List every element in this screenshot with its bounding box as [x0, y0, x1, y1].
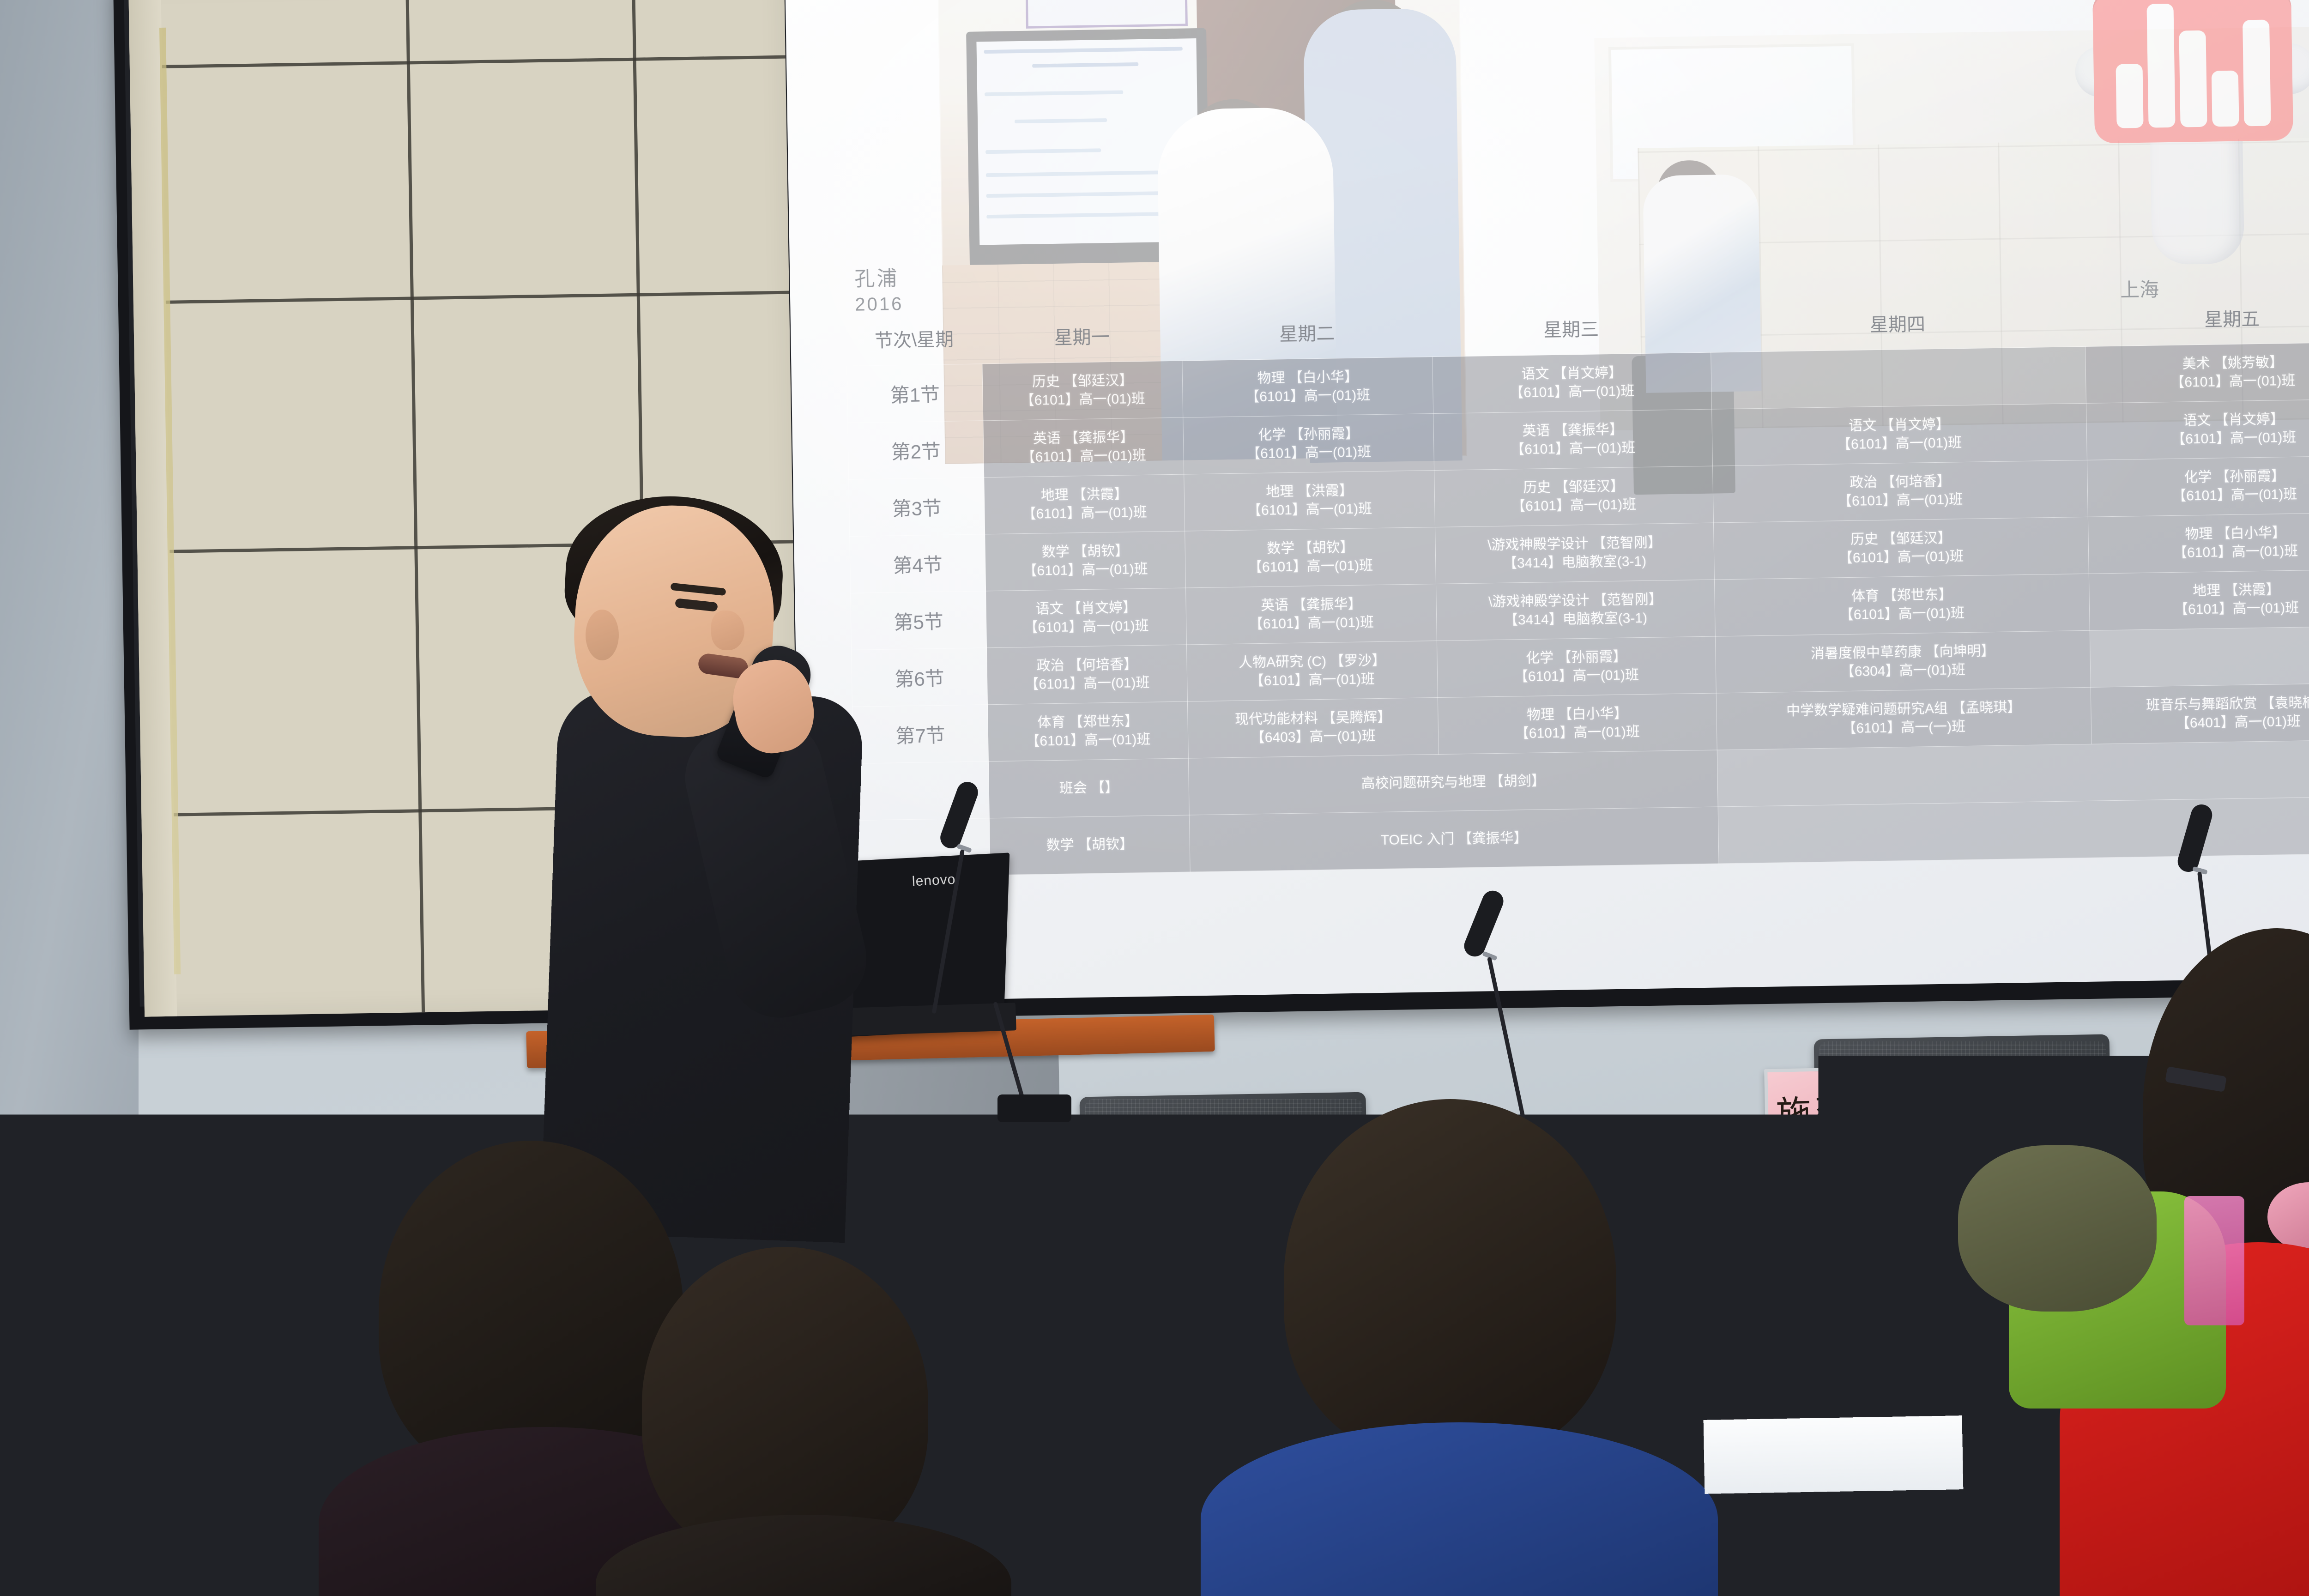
timetable-cell: 语文 【肖文婷】【6101】高一(01)班: [1711, 403, 2087, 466]
timetable-cell: 地理 【洪霞】【6101】高一(01)班: [1184, 471, 1435, 531]
timetable-cell: 化学 【孙丽霞】【6101】高一(01)班: [2087, 455, 2309, 517]
timetable-cell-subject: 物理 【白小华】: [2089, 522, 2309, 545]
timetable-table: 节次\星期 星期一 星期二 星期三 星期四 星期五 第1节历史 【邹廷汉】【61…: [846, 298, 2309, 877]
paper-cup-stripe: [970, 1399, 980, 1448]
timetable-cell: \游戏神殿学设计 【范智刚】【3414】电脑教室(3-1): [1435, 523, 1714, 584]
timetable-row-label: 第7节: [852, 705, 988, 764]
timetable-cell: 英语 【龚振华】【6101】高一(01)班: [1186, 584, 1437, 645]
bar-chart-bar-5: [2243, 19, 2271, 126]
timetable-cell-room: 【3414】电脑教室(3-1): [1436, 551, 1713, 574]
slide-meta-line-2: 2016: [855, 294, 904, 315]
timetable-row-label: 第5节: [851, 591, 987, 650]
audience-head-5: [1284, 1099, 1616, 1459]
timetable-cell-room: 【6101】高一(01)班: [1435, 495, 1712, 518]
timetable-day-header-5: 星期五: [2085, 298, 2309, 346]
timetable-cell: 英语 【龚振华】【6101】高一(01)班: [1433, 409, 1712, 470]
timetable-cell-room: 【6101】高一(01)班: [1434, 438, 1711, 461]
timetable-cell: 历史 【邹廷汉】【6101】高一(01)班: [982, 361, 1183, 421]
timetable-cell: 物理 【白小华】【6101】高一(01)班: [1438, 693, 1717, 754]
timetable-cell: 语文 【肖文婷】【6101】高一(01)班: [1433, 352, 1711, 413]
slide-3d-figure: [2068, 0, 2309, 271]
timetable-footer-cell: TOEIC 入门 【龚振华】: [1190, 807, 1719, 872]
timetable-footer-cell: [1717, 739, 2309, 807]
nameplate-text: 施建国: [1775, 1083, 1892, 1136]
timetable-cell-room: 【6101】高一(01)班: [1186, 556, 1435, 578]
timetable-day-header-4: 星期四: [1710, 303, 2085, 352]
slide-meta-line-1: 孔浦: [854, 261, 899, 292]
timetable-cell-room: 【6403】高一(01)班: [1189, 726, 1438, 749]
timetable-cell-subject: 班音乐与舞蹈欣赏 【袁晓楠】: [2091, 693, 2309, 716]
timetable-cell: 体育 【郑世东】【6101】高一(01)班: [1714, 574, 2090, 636]
timetable-footer-cell: 数学 【胡钦】: [989, 815, 1190, 875]
bar-chart-bar-1: [2116, 63, 2143, 128]
timetable-cell: 物理 【白小华】【6101】高一(01)班: [2088, 512, 2309, 574]
timetable-cell: 现代功能材料 【吴腾辉】【6403】高一(01)班: [1188, 697, 1439, 758]
timetable-cell: 中学数学疑难问题研究A组 【孟晓琪】【6101】高一(一)班: [1716, 687, 2091, 750]
audience-head-3: [642, 1247, 928, 1561]
timetable-cell-room: 【6101】高一(01)班: [987, 617, 1186, 638]
timetable-cell: 体育 【郑世东】【6101】高一(01)班: [987, 701, 1188, 762]
timetable-cell: 地理 【洪霞】【6101】高一(01)班: [984, 474, 1185, 534]
timetable-cell-room: 【6101】高一(01)班: [1438, 665, 1715, 688]
bar-chart-bar-3: [2179, 30, 2207, 127]
timetable-cell-subject: 语文 【肖文婷】: [986, 598, 1185, 619]
speaker-nose: [711, 611, 744, 650]
timetable-cell-subject: 地理 【洪霞】: [985, 484, 1184, 506]
timetable-cell: 英语 【龚振华】【6101】高一(01)班: [983, 417, 1184, 478]
timetable-cell: 数学 【胡钦】【6101】高一(01)班: [985, 531, 1186, 591]
timetable-cell-room: 【6101】高一(01)班: [1433, 381, 1711, 404]
timetable-footer-cell: 高校问题研究与地理 【胡剑】: [1189, 750, 1718, 815]
timetable-row-label: 第1节: [847, 364, 983, 423]
speaker-ear: [586, 610, 619, 660]
timetable-cell-room: 【6101】高一(01)班: [1185, 499, 1434, 521]
timetable-cell-subject: 化学 【孙丽霞】: [2088, 465, 2309, 489]
timetable-cell: 数学 【胡钦】【6101】高一(01)班: [1185, 527, 1436, 588]
timetable-cell-room: 【6101】高一(01)班: [985, 503, 1184, 525]
slide-meta-top-right: 上海: [2120, 274, 2159, 302]
bar-chart-icon: [2092, 0, 2293, 143]
audience-olive-bag: [1958, 1145, 2157, 1312]
timetable-cell: 物理 【白小华】【6101】高一(01)班: [1182, 357, 1433, 417]
timetable-cell-room: 【6101】高一(01)班: [1184, 385, 1433, 408]
timetable-cell-subject: 地理 【洪霞】: [2090, 579, 2309, 602]
timetable-cell: 人物A研究 (C) 【罗沙】【6101】高一(01)班: [1187, 641, 1438, 701]
nameplate: 施建国: [1764, 1066, 1904, 1153]
timetable-row-label: 第2节: [848, 421, 984, 480]
timetable-cell-room: 【6101】高一(01)班: [984, 446, 1183, 468]
timetable-cell-subject: 英语 【龚振华】: [984, 427, 1183, 449]
timetable-row-label: 第4节: [850, 534, 986, 593]
timetable-cell-room: 【6101】高一(01)班: [1188, 669, 1437, 692]
timetable-cell: 政治 【何培香】【6101】高一(01)班: [987, 645, 1188, 705]
timetable-cell-room: 【6101】高一(01)班: [989, 730, 1188, 752]
timetable-cell-room: 【6101】高一(01)班: [1185, 442, 1433, 465]
timetable-cell: 消暑度假中草药康 【向坤明】【6304】高一(01)班: [1715, 630, 2091, 693]
slide-timetable: 孔浦 2016 上海 节次\星期 星期一 星期二 星期三 星期四 星期五 第1节…: [846, 298, 2309, 960]
timetable-cell: 历史 【邹廷汉】【6101】高一(01)班: [1434, 466, 1713, 527]
timetable-cell: \游戏神殿学设计 【范智刚】【3414】电脑教室(3-1): [1436, 580, 1715, 641]
timetable-cell: 历史 【邹廷汉】【6101】高一(01)班: [1713, 517, 2089, 580]
timetable-cell: 地理 【洪霞】【6101】高一(01)班: [2089, 569, 2309, 630]
timetable-cell: 美术 【姚芳敏】【6101】高一(01)班: [2085, 342, 2309, 403]
timetable-body: 第1节历史 【邹廷汉】【6101】高一(01)班物理 【白小华】【6101】高一…: [847, 342, 2309, 877]
bar-chart-bars: [2108, 2, 2277, 128]
timetable-cell-subject: 数学 【胡钦】: [986, 541, 1185, 562]
timetable-cell-room: 【6101】高一(01)班: [1439, 722, 1716, 745]
timetable-footer-cell: 班会 【】: [988, 758, 1189, 818]
audience-pink-bottle: [2184, 1196, 2244, 1325]
timetable-cell: 语文 【肖文婷】【6101】高一(01)班: [2086, 399, 2309, 460]
timetable-cell: 化学 【孙丽霞】【6101】高一(01)班: [1183, 414, 1434, 474]
timetable-cell-subject: 美术 【姚芳敏】: [2086, 352, 2309, 375]
timetable-cell-room: 【6101】高一(01)班: [1187, 612, 1436, 635]
timetable-cell-room: 【6101】高一(01)班: [983, 389, 1182, 411]
timetable-cell-subject: 历史 【邹廷汉】: [983, 370, 1182, 392]
projection-screen: 孔浦 2016 上海 节次\星期 星期一 星期二 星期三 星期四 星期五 第1节…: [785, 0, 2309, 1002]
timetable-cell-subject: 体育 【郑世东】: [988, 711, 1187, 733]
timetable-cell: [2090, 626, 2309, 687]
timetable-footer-cell: [1718, 796, 2309, 864]
timetable-cell-room: 【3414】电脑教室(3-1): [1437, 608, 1714, 631]
timetable-day-header-1: 星期一: [981, 317, 1182, 364]
timetable-cell: 政治 【何培香】【6101】高一(01)班: [1712, 460, 2088, 523]
timetable-cell: 语文 【肖文婷】【6101】高一(01)班: [986, 588, 1187, 648]
timetable-cell: 班音乐与舞蹈欣赏 【袁晓楠】【6401】高一(01)班: [2091, 683, 2309, 744]
paper-sheet-on-table: [1704, 1415, 1964, 1494]
timetable-cell: [1711, 346, 2086, 409]
timetable-cell-room: 【6101】高一(01)班: [988, 673, 1187, 695]
timetable-cell-subject: 语文 【肖文婷】: [2087, 409, 2309, 432]
presentation-room-photo: 孔浦 2016 上海 节次\星期 星期一 星期二 星期三 星期四 星期五 第1节…: [0, 0, 2309, 1596]
timetable-row-label: 第6节: [852, 648, 988, 707]
timetable-cell: 化学 【孙丽霞】【6101】高一(01)班: [1437, 636, 1716, 697]
timetable-day-header-3: 星期三: [1432, 309, 1711, 357]
bar-chart-bar-4: [2212, 71, 2239, 127]
timetable-row-label: 第3节: [849, 478, 985, 537]
timetable-day-header-2: 星期二: [1182, 313, 1433, 361]
timetable-cell-subject: 政治 【何培香】: [987, 654, 1186, 676]
laptop-brand-label: lenovo: [912, 872, 956, 890]
kiosk-wall-poster: [1026, 0, 1188, 29]
bar-chart-bar-2: [2146, 4, 2175, 128]
timetable-corner-header: 节次\星期: [846, 320, 982, 366]
timetable-cell-room: 【6101】高一(01)班: [986, 560, 1185, 581]
